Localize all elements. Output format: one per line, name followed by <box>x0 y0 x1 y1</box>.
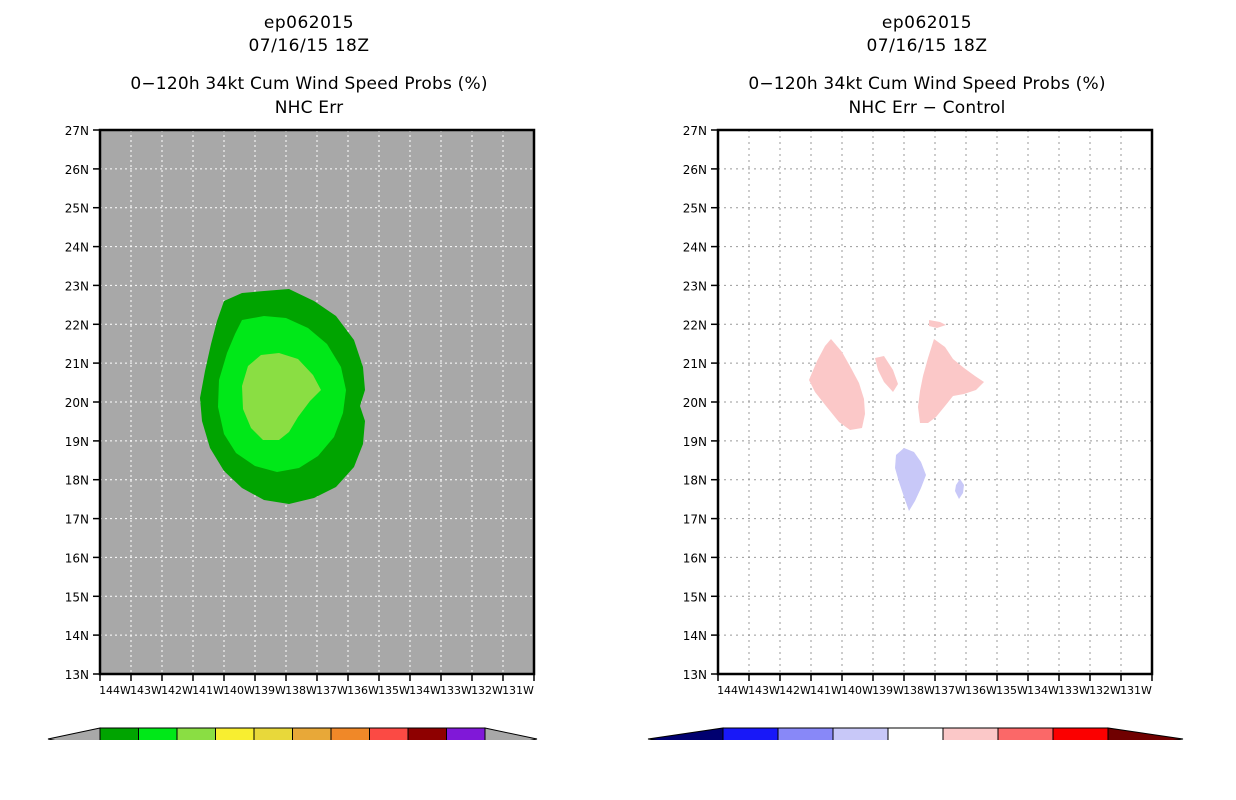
left-plot-wrapper: 27N 26N 25N 24N 23N 22N 21N 20N 19N 18N … <box>0 120 618 740</box>
left-xtick-8: 136W <box>347 684 379 697</box>
colorbar-block-0 <box>100 728 139 740</box>
colorbar-block-2 <box>177 728 216 740</box>
left-x-axis: 144W 143W 142W 141W 140W 139W 138W 137W … <box>99 674 534 697</box>
colorbar-block-9 <box>447 728 486 740</box>
left-ytick-2: 25N <box>65 202 89 216</box>
right-ytick-0: 27N <box>683 124 707 138</box>
right-x-axis: 144W 143W 142W 141W 140W 139W 138W 137W … <box>717 674 1152 697</box>
right-xtick-3: 141W <box>810 684 842 697</box>
colorbar-block-5 <box>293 728 332 740</box>
right-ytick-9: 18N <box>683 474 707 488</box>
right-xtick-4: 140W <box>841 684 873 697</box>
right-xtick-0: 144W <box>717 684 749 697</box>
right-xtick-11: 133W <box>1058 684 1090 697</box>
panel-nhc-err: ep062015 07/16/15 18Z 0−120h 34kt Cum Wi… <box>0 0 618 740</box>
right-xtick-5: 139W <box>872 684 904 697</box>
panel-nhc-err-minus-control: ep062015 07/16/15 18Z 0−120h 34kt Cum Wi… <box>618 0 1236 740</box>
right-plot-wrapper: 27N 26N 25N 24N 23N 22N 21N 20N 19N 18N … <box>618 120 1236 740</box>
right-ytick-7: 20N <box>683 396 707 410</box>
right-ytick-13: 14N <box>683 629 707 643</box>
left-ytick-7: 20N <box>65 396 89 410</box>
left-xtick-5: 139W <box>254 684 286 697</box>
right-ytick-12: 15N <box>683 590 707 604</box>
left-ytick-5: 22N <box>65 318 89 332</box>
left-xtick-9: 135W <box>378 684 410 697</box>
anomaly-colorbar-block-6 <box>1053 728 1108 740</box>
left-datetime: 07/16/15 18Z <box>0 35 618 58</box>
right-xtick-10: 134W <box>1027 684 1059 697</box>
right-ytick-1: 26N <box>683 163 707 177</box>
anomaly-colorbar-left-cap <box>648 728 723 740</box>
right-ytick-2: 25N <box>683 202 707 216</box>
left-product-title: 0−120h 34kt Cum Wind Speed Probs (%) <box>0 72 618 96</box>
right-xtick-13: 131W <box>1120 684 1152 697</box>
right-product-title: 0−120h 34kt Cum Wind Speed Probs (%) <box>618 72 1236 96</box>
right-panel-titles: ep062015 07/16/15 18Z 0−120h 34kt Cum Wi… <box>618 0 1236 120</box>
left-xtick-6: 138W <box>285 684 317 697</box>
colorbar-block-6 <box>331 728 370 740</box>
right-ytick-4: 23N <box>683 279 707 293</box>
left-ytick-3: 24N <box>65 241 89 255</box>
colorbar-block-8 <box>408 728 447 740</box>
left-ytick-11: 16N <box>65 551 89 565</box>
left-ytick-8: 19N <box>65 435 89 449</box>
left-panel-titles: ep062015 07/16/15 18Z 0−120h 34kt Cum Wi… <box>0 0 618 120</box>
right-y-axis: 27N 26N 25N 24N 23N 22N 21N 20N 19N 18N … <box>683 124 718 682</box>
right-ytick-11: 16N <box>683 551 707 565</box>
left-xtick-12: 132W <box>471 684 503 697</box>
left-xtick-13: 131W <box>502 684 534 697</box>
right-datetime: 07/16/15 18Z <box>618 35 1236 58</box>
left-xtick-11: 133W <box>440 684 472 697</box>
left-ytick-12: 15N <box>65 590 89 604</box>
chart-panels-container: ep062015 07/16/15 18Z 0−120h 34kt Cum Wi… <box>0 0 1236 740</box>
left-ytick-13: 14N <box>65 629 89 643</box>
anomaly-colorbar-block-1 <box>778 728 833 740</box>
anomaly-colorbar-block-0 <box>723 728 778 740</box>
colorbar-block-1 <box>139 728 178 740</box>
left-xtick-4: 140W <box>223 684 255 697</box>
anomaly-colorbar-block-2 <box>833 728 888 740</box>
left-y-axis: 27N 26N 25N 24N 23N 22N 21N 20N 19N 18N … <box>65 124 100 682</box>
left-variant-title: NHC Err <box>0 96 618 120</box>
right-xtick-1: 143W <box>748 684 780 697</box>
right-xtick-8: 136W <box>965 684 997 697</box>
right-ytick-14: 13N <box>683 668 707 682</box>
left-ytick-9: 18N <box>65 474 89 488</box>
left-storm-id: ep062015 <box>0 12 618 35</box>
right-ytick-3: 24N <box>683 241 707 255</box>
left-ytick-1: 26N <box>65 163 89 177</box>
left-ytick-14: 13N <box>65 668 89 682</box>
right-ytick-5: 22N <box>683 318 707 332</box>
anomaly-colorbar: −10 −5 −3 −1 1 3 5 10 <box>648 728 1183 740</box>
right-xtick-7: 137W <box>934 684 966 697</box>
right-xtick-6: 138W <box>903 684 935 697</box>
colorbar-left-cap <box>48 728 100 740</box>
left-xtick-7: 137W <box>316 684 348 697</box>
left-ytick-10: 17N <box>65 513 89 527</box>
left-xtick-2: 142W <box>161 684 193 697</box>
anomaly-colorbar-block-3 <box>888 728 943 740</box>
right-xtick-9: 135W <box>996 684 1028 697</box>
left-xtick-0: 144W <box>99 684 131 697</box>
anomaly-colorbar-block-4 <box>943 728 998 740</box>
left-ytick-4: 23N <box>65 279 89 293</box>
anomaly-colorbar-right-cap <box>1108 728 1183 740</box>
right-plot-svg: 27N 26N 25N 24N 23N 22N 21N 20N 19N 18N … <box>618 120 1236 740</box>
right-ytick-10: 17N <box>683 513 707 527</box>
colorbar-block-4 <box>254 728 293 740</box>
left-xtick-10: 134W <box>409 684 441 697</box>
right-xtick-2: 142W <box>779 684 811 697</box>
right-xtick-12: 132W <box>1089 684 1121 697</box>
right-storm-id: ep062015 <box>618 12 1236 35</box>
probability-colorbar: 5 10 20 30 40 50 60 70 80 90 100 <box>48 728 537 740</box>
colorbar-block-7 <box>370 728 409 740</box>
left-xtick-1: 143W <box>130 684 162 697</box>
right-variant-title: NHC Err − Control <box>618 96 1236 120</box>
left-xtick-3: 141W <box>192 684 224 697</box>
left-ytick-6: 21N <box>65 357 89 371</box>
right-ytick-6: 21N <box>683 357 707 371</box>
left-ytick-0: 27N <box>65 124 89 138</box>
right-ytick-8: 19N <box>683 435 707 449</box>
colorbar-block-3 <box>216 728 255 740</box>
anomaly-colorbar-block-5 <box>998 728 1053 740</box>
left-plot-svg: 27N 26N 25N 24N 23N 22N 21N 20N 19N 18N … <box>0 120 618 740</box>
colorbar-right-cap <box>485 728 537 740</box>
